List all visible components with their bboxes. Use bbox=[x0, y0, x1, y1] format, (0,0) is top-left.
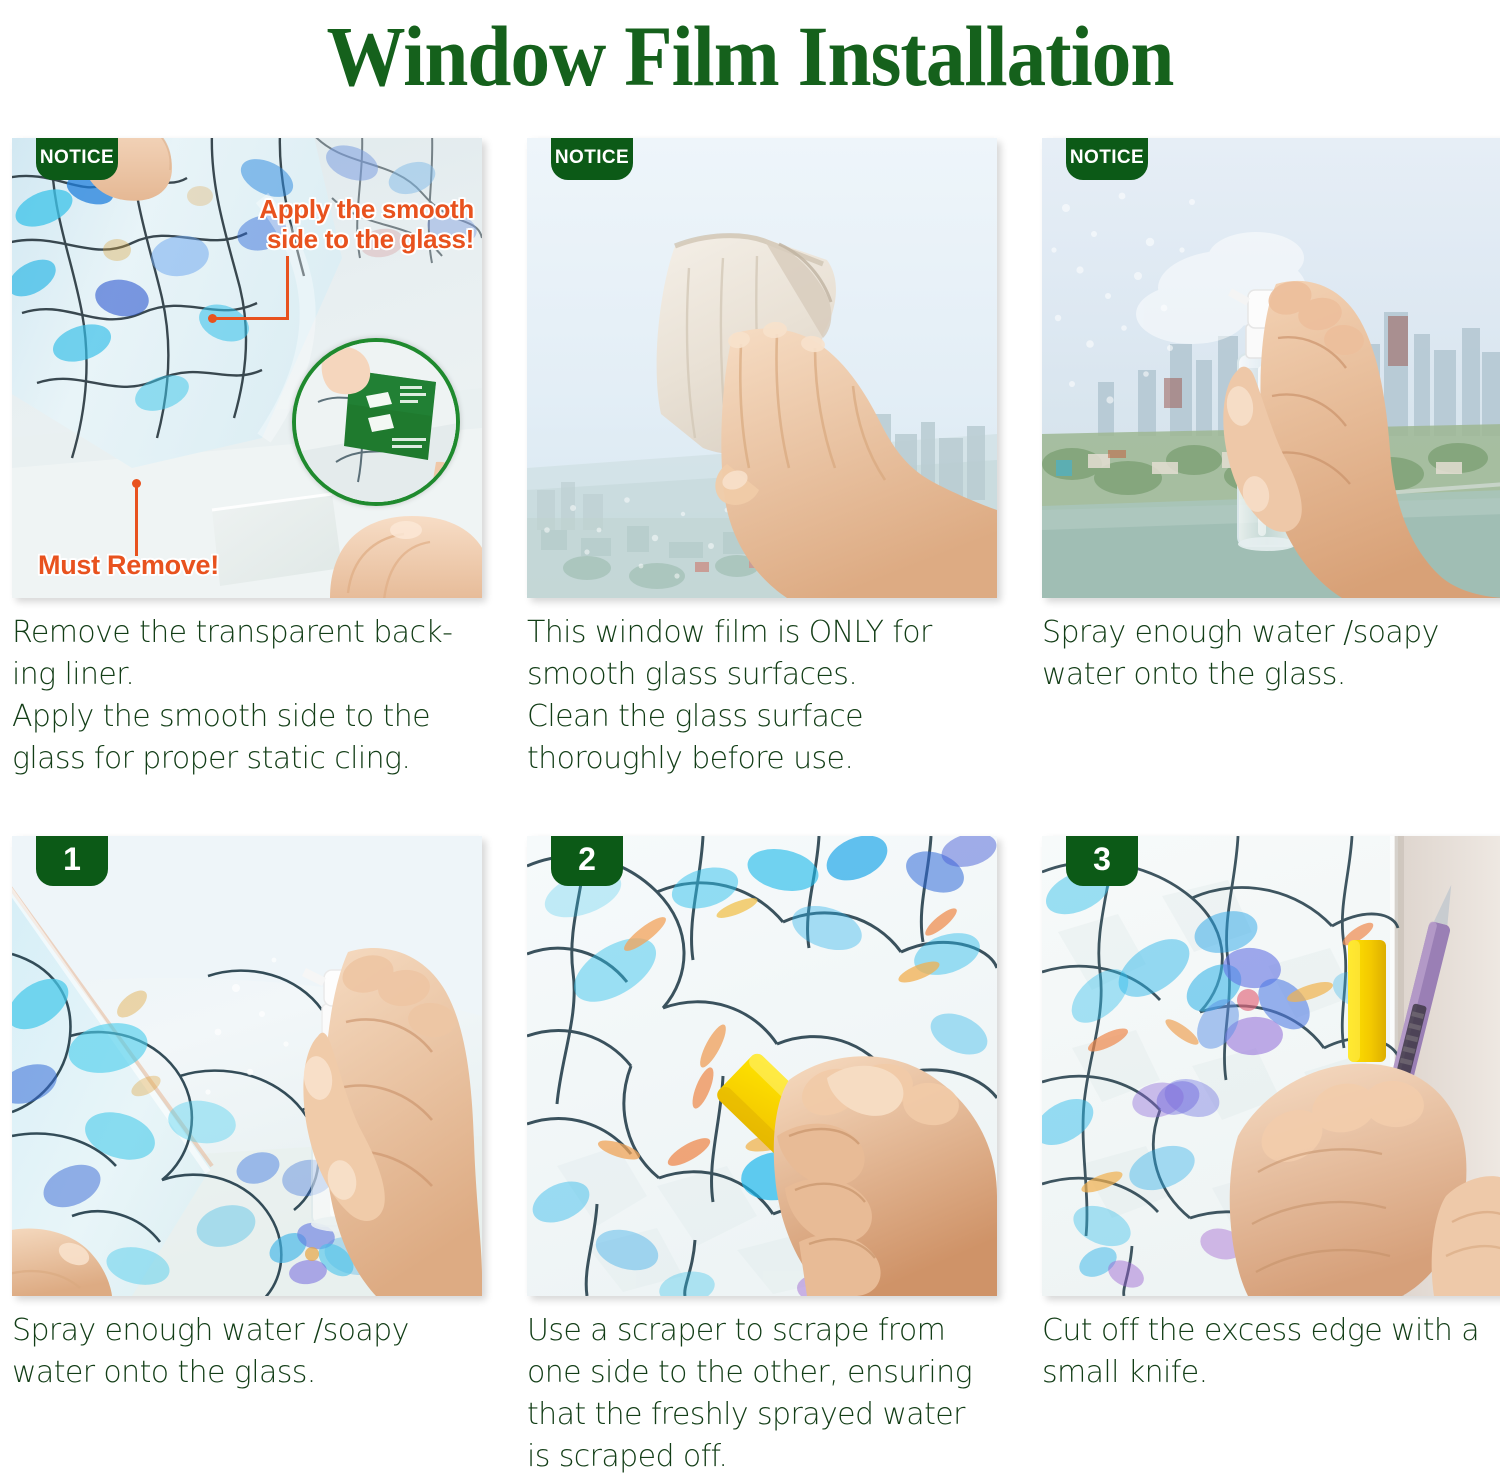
page-title: Window Film Installation bbox=[60, 0, 1440, 108]
panel-caption: This window film is ONLY for smooth glas… bbox=[527, 612, 997, 780]
panel-caption: Use a scraper to scrape from one side to… bbox=[527, 1310, 997, 1478]
must-remove-pointer-dot bbox=[132, 479, 141, 488]
apply-smooth-side-annotation: Apply the smooth side to the glass! bbox=[259, 194, 474, 254]
scraping-film-with-squeegee-photo: 2 bbox=[527, 836, 997, 1296]
squeegee-scraping-illustration bbox=[527, 836, 997, 1296]
peeling-backing-liner-photo: NOTICE Apply the smooth side to the glas… bbox=[12, 138, 482, 598]
notice-badge: NOTICE bbox=[551, 138, 633, 180]
trimming-excess-edge-photo: 3 bbox=[1042, 836, 1500, 1296]
notice-badge: NOTICE bbox=[36, 138, 118, 180]
magnifier-inset-illustration bbox=[296, 342, 460, 506]
must-remove-annotation: Must Remove! bbox=[38, 550, 219, 580]
spraying-water-on-glass-photo: NOTICE bbox=[1042, 138, 1500, 598]
step-number-badge: 3 bbox=[1066, 836, 1138, 886]
spray-bottle-on-glass-illustration bbox=[1042, 138, 1500, 598]
applying-film-with-spray-photo: 1 bbox=[12, 836, 482, 1296]
instruction-panel-5: 2 Use a scraper to scrape from one side … bbox=[527, 836, 997, 1478]
instruction-panel-4: 1 Spray enough water /soapy water onto t… bbox=[12, 836, 482, 1478]
panel-caption: Cut off the excess edge with a small kni… bbox=[1042, 1310, 1500, 1394]
panel-caption: Spray enough water /soapy water onto the… bbox=[12, 1310, 482, 1394]
instruction-grid: NOTICE Apply the smooth side to the glas… bbox=[12, 138, 1492, 1478]
instruction-panel-3: NOTICE Spray enough water /soapy water o… bbox=[1042, 138, 1500, 780]
instruction-panel-6: 3 Cut off the excess edge with a small k… bbox=[1042, 836, 1500, 1478]
step-number-badge: 1 bbox=[36, 836, 108, 886]
instruction-panel-2: NOTICE This window film is ONLY for smoo… bbox=[527, 138, 997, 780]
liner-corner-magnifier-inset bbox=[292, 338, 460, 506]
apply-pointer-vertical bbox=[286, 256, 289, 320]
panel-caption: Remove the transparent back- ing liner. … bbox=[12, 612, 482, 780]
apply-pointer-horizontal bbox=[212, 317, 289, 320]
step-number-badge: 2 bbox=[551, 836, 623, 886]
knife-trimming-edge-illustration bbox=[1042, 836, 1500, 1296]
cleaning-glass-with-cloth-photo: NOTICE bbox=[527, 138, 997, 598]
apply-pointer-dot bbox=[208, 314, 217, 323]
instruction-panel-1: NOTICE Apply the smooth side to the glas… bbox=[12, 138, 482, 780]
film-peel-spray-illustration bbox=[12, 836, 482, 1296]
notice-badge: NOTICE bbox=[1066, 138, 1148, 180]
must-remove-pointer-line bbox=[135, 483, 138, 556]
cloth-wiping-glass-illustration bbox=[527, 138, 997, 598]
panel-caption: Spray enough water /soapy water onto the… bbox=[1042, 612, 1500, 696]
